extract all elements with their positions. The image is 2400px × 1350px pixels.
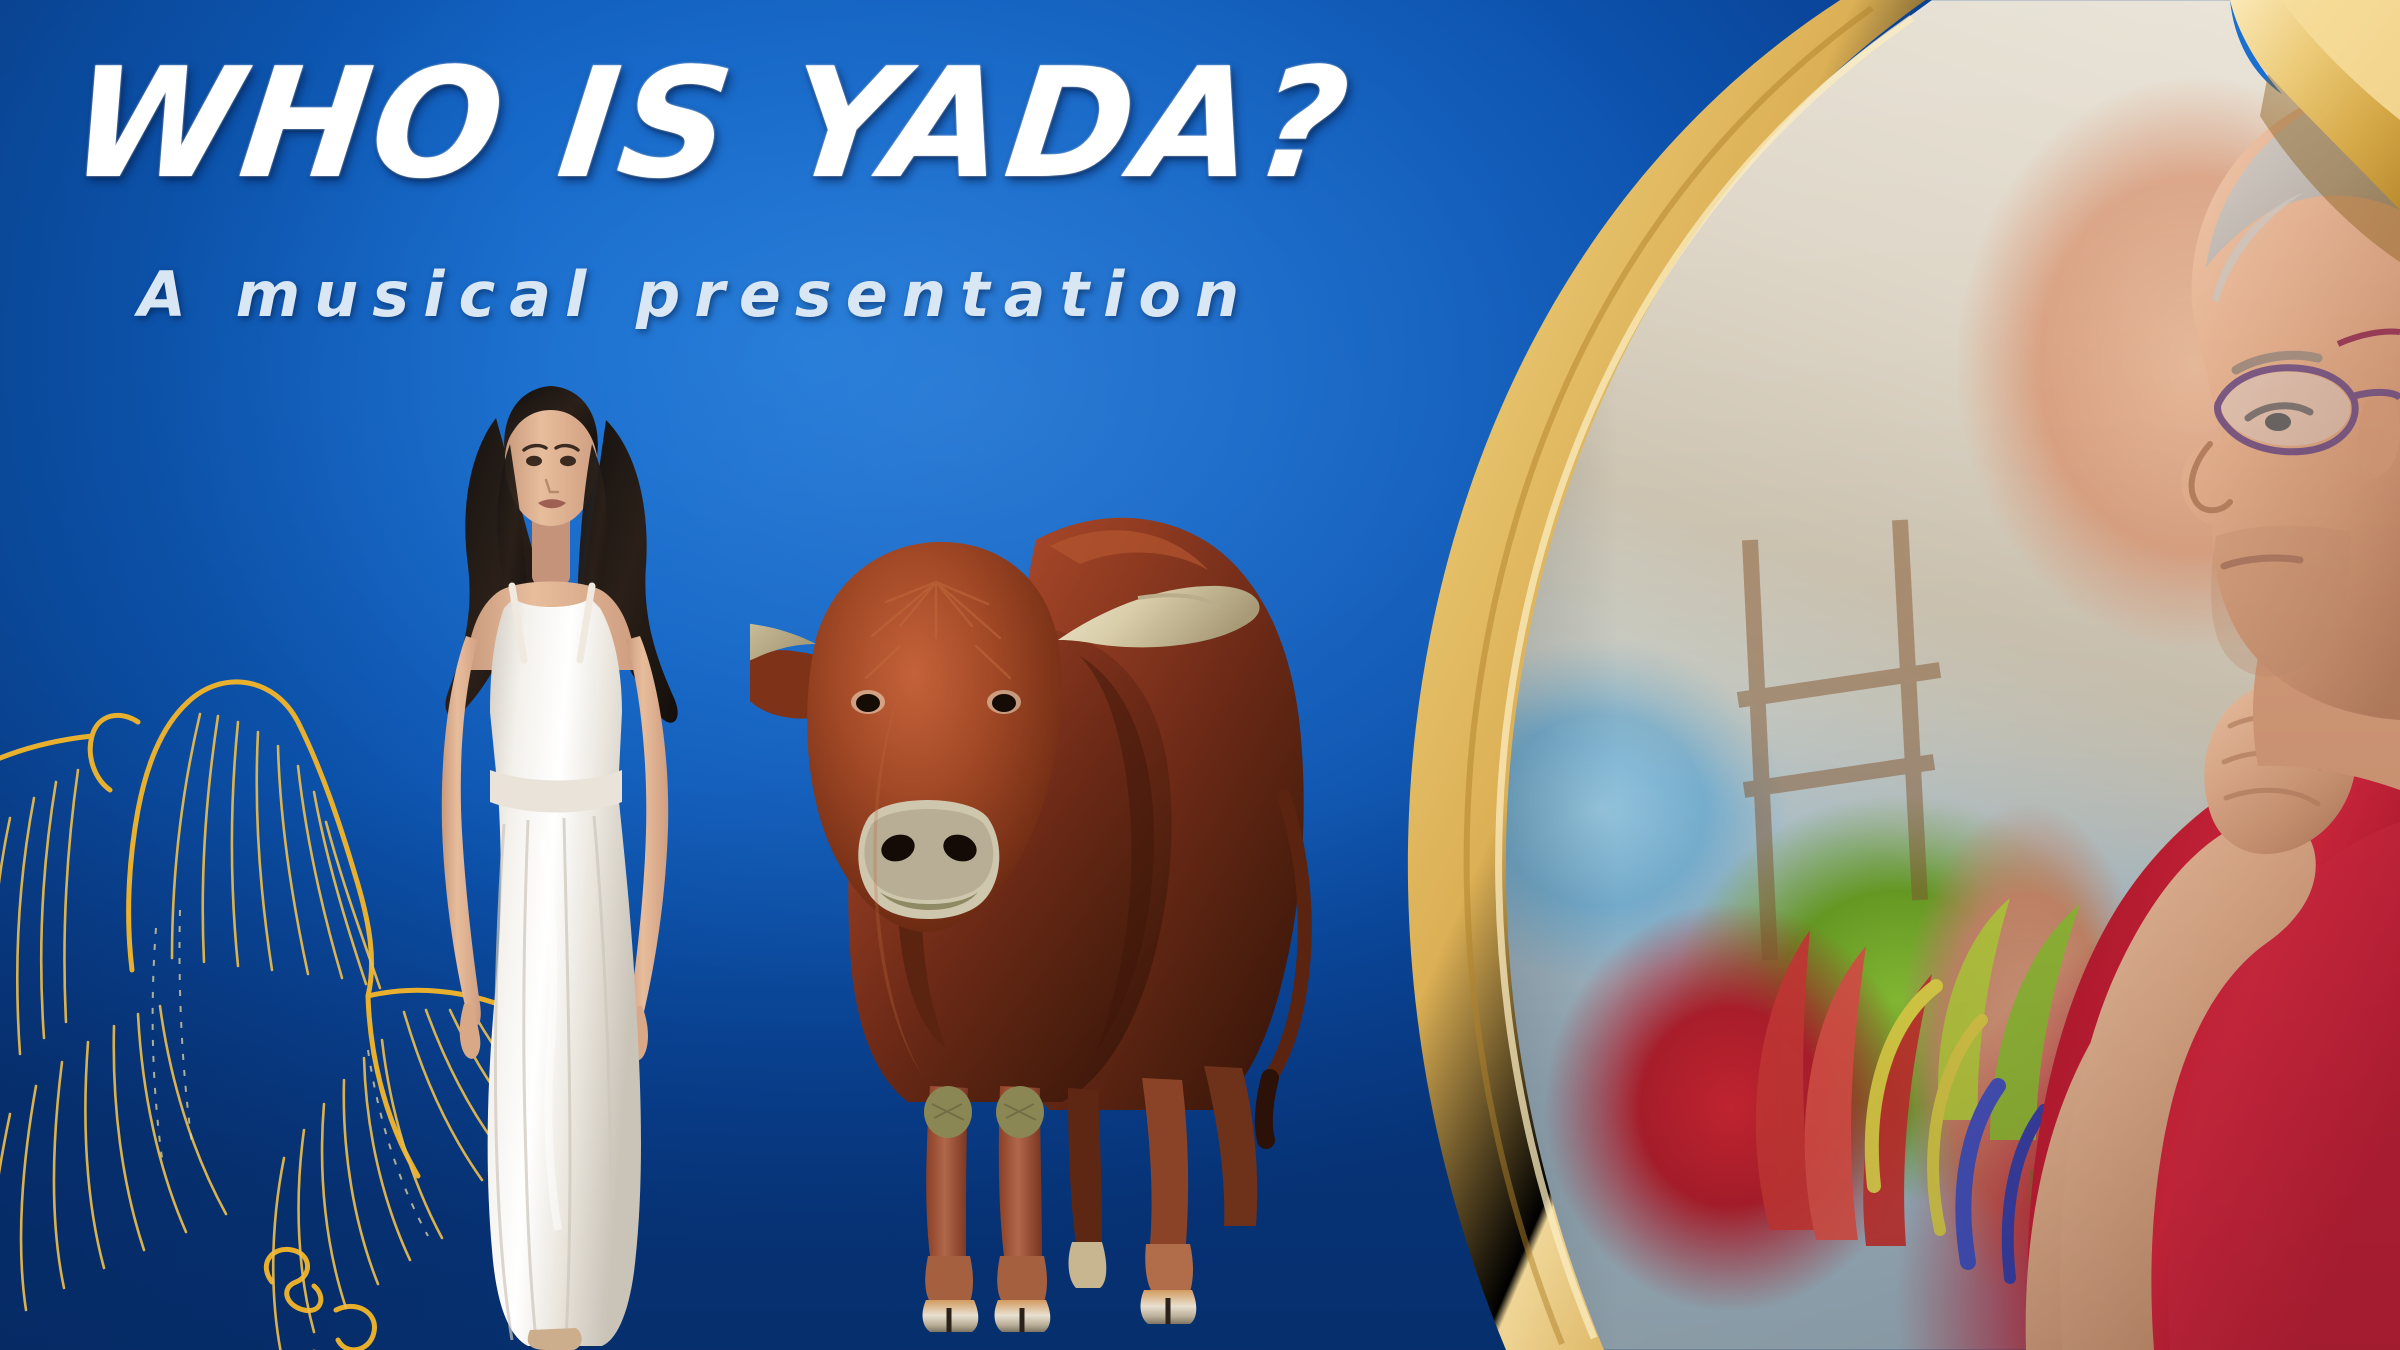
video-thumbnail: WHO IS YADA? A musical presentation (0, 0, 2400, 1350)
woman-in-white-dress (378, 340, 738, 1350)
page-title: WHO IS YADA? (62, 46, 1601, 201)
page-subtitle: A musical presentation (138, 258, 1253, 331)
gold-arc-frame (1300, 0, 2400, 1350)
